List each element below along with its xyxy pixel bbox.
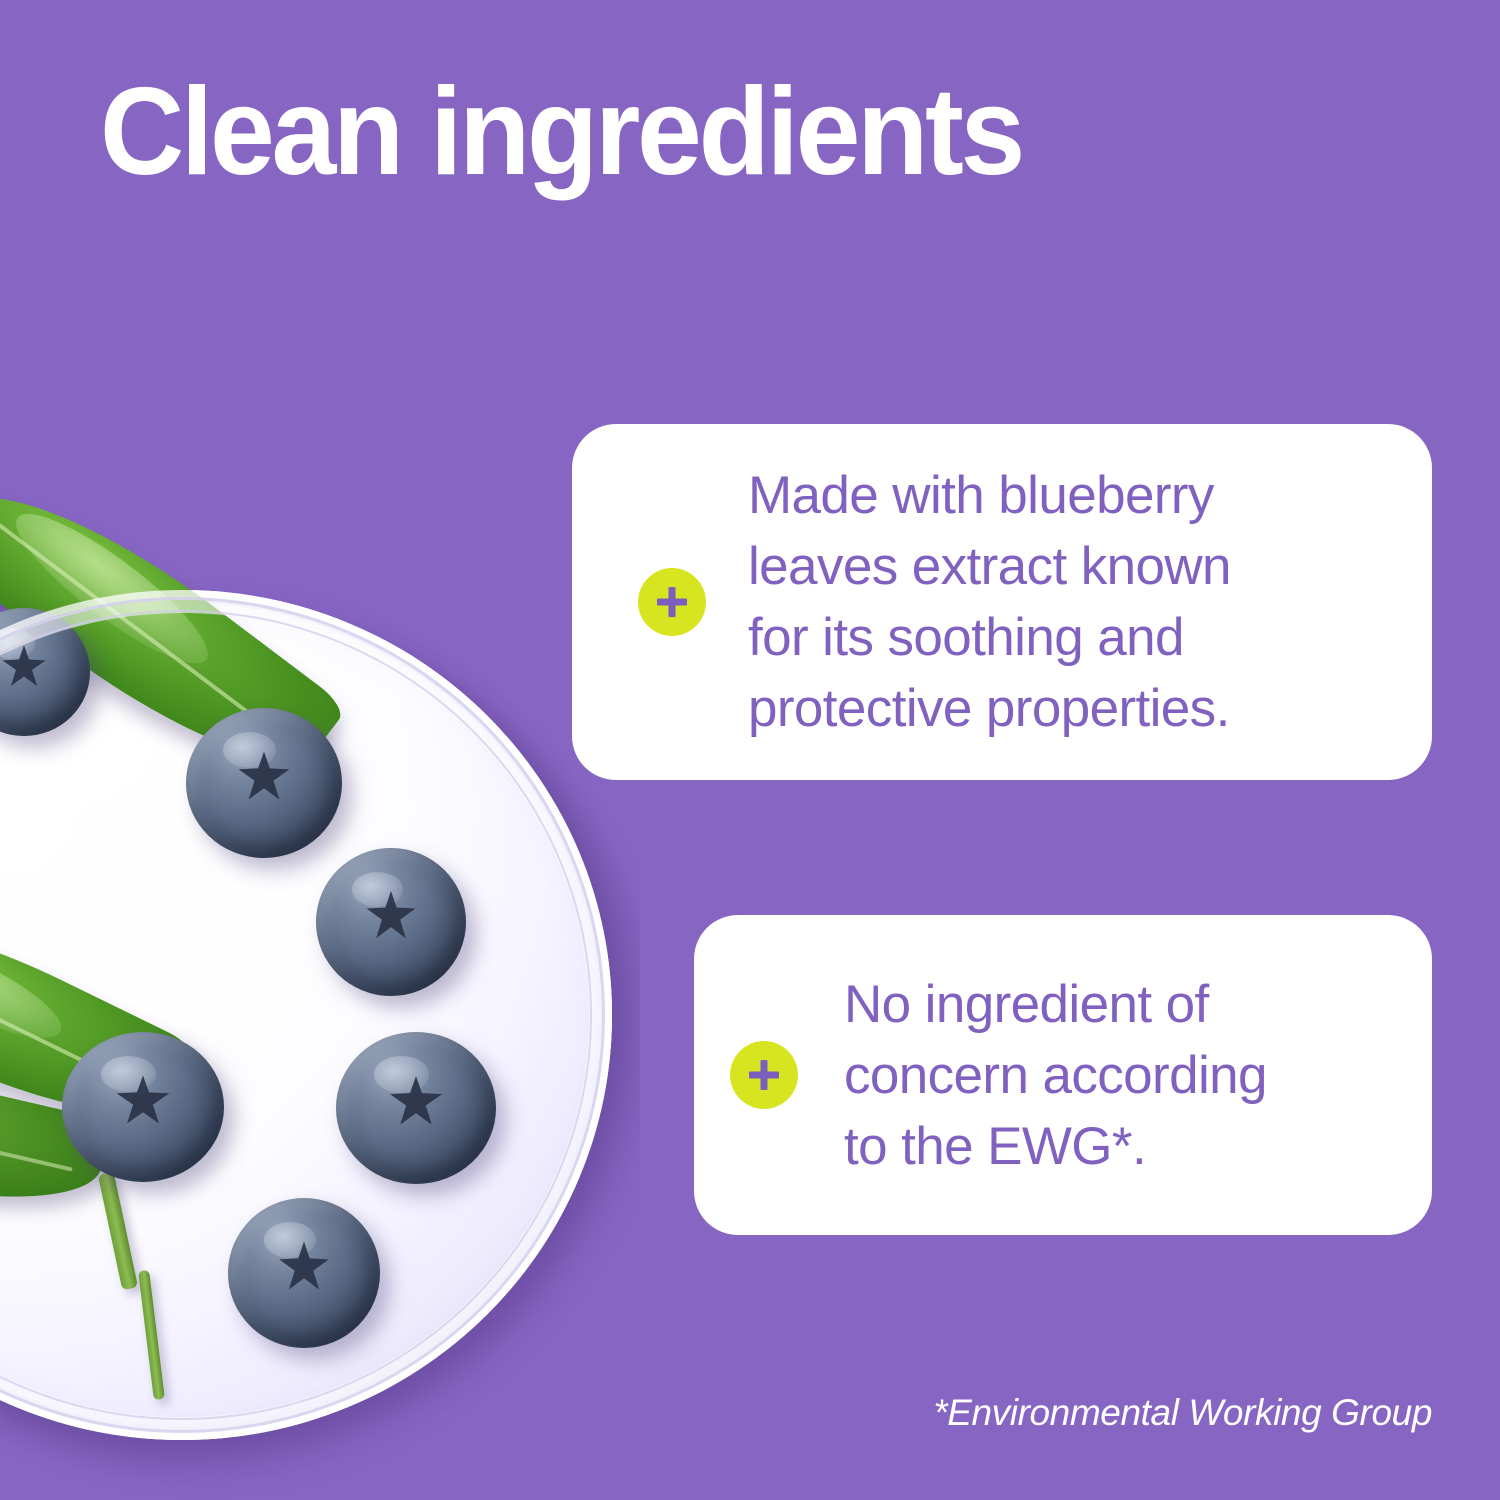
blueberry bbox=[228, 1198, 380, 1348]
plus-icon-vertical-bar bbox=[761, 1060, 768, 1090]
benefit-card-text: Made with blueberry leaves extract known… bbox=[748, 460, 1231, 744]
blueberry bbox=[62, 1032, 224, 1182]
product-photo bbox=[0, 480, 640, 1500]
blueberry bbox=[336, 1032, 496, 1184]
benefit-card-text: No ingredient of concern according to th… bbox=[844, 969, 1267, 1182]
page-title: Clean ingredients bbox=[100, 70, 1228, 194]
infographic-canvas: Clean ingredients bbox=[0, 0, 1500, 1500]
blueberry bbox=[316, 848, 466, 996]
blueberry bbox=[186, 708, 342, 858]
plus-icon bbox=[730, 1041, 798, 1109]
benefit-card: No ingredient of concern according to th… bbox=[694, 915, 1432, 1235]
plus-icon bbox=[638, 568, 706, 636]
benefit-card: Made with blueberry leaves extract known… bbox=[572, 424, 1432, 780]
plus-icon-vertical-bar bbox=[669, 587, 676, 617]
footnote: *Environmental Working Group bbox=[933, 1392, 1432, 1434]
